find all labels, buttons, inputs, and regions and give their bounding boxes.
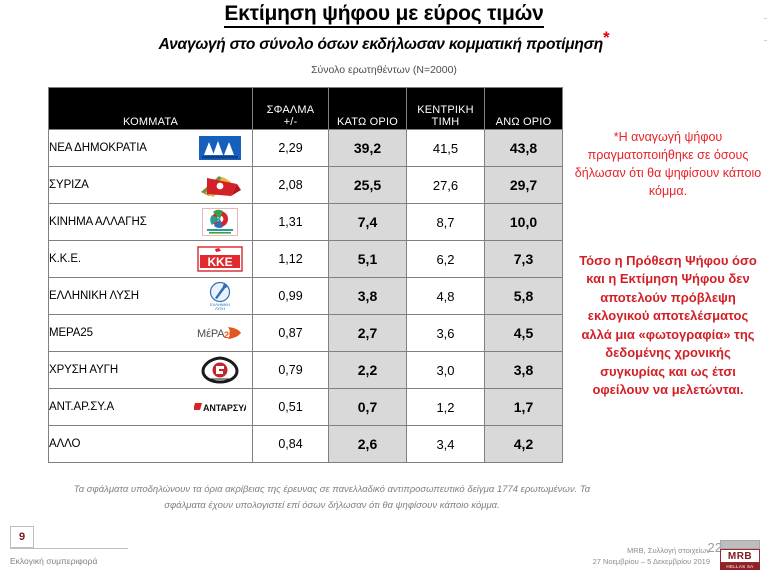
table-header-row: ΚΟΜΜΑΤΑ ΣΦΑΛΜΑ +/- ΚΑΤΩ ΟΡΙΟ ΚΕΝΤΡΙΚΗ ΤΙ… [49,88,563,130]
table-row: ΕΛΛΗΝΙΚΗ ΛΥΣΗΕΛΛΗΝΙΚΗΛΥΣΗ0,993,84,85,8 [49,278,563,315]
upper-bound-cell: 7,3 [485,241,563,278]
party-name: ΑΝΤ.ΑΡ.ΣΥ.Α [49,401,114,413]
nd-logo [194,134,246,162]
svg-text:ΜέΡΑ: ΜέΡΑ [197,328,225,340]
page-subtitle-text: Αναγωγή στο σύνολο όσων εκδήλωσαν κομματ… [159,36,603,53]
poll-table: ΚΟΜΜΑΤΑ ΣΦΑΛΜΑ +/- ΚΑΤΩ ΟΡΙΟ ΚΕΝΤΡΙΚΗ ΤΙ… [48,87,563,463]
table-row: ΚΙΝΗΜΑ ΑΛΛΑΓΗΣ1,317,48,710,0 [49,204,563,241]
lower-bound-cell: 39,2 [329,130,407,167]
footer-section-label: Εκλογική συμπεριφορά [10,556,97,566]
upper-bound-cell: 4,2 [485,426,563,463]
central-value-cell: 8,7 [407,204,485,241]
column-header-central-value: ΚΕΝΤΡΙΚΗ ΤΙΜΗ [407,88,485,130]
party-name: ΝΕΑ ΔΗΜΟΚΡΑΤΙΑ [49,142,147,154]
syriza-logo [194,171,246,199]
party-name: ΜΕΡΑ25 [49,327,93,339]
poll-table-container: ΚΟΜΜΑΤΑ ΣΦΑΛΜΑ +/- ΚΑΤΩ ΟΡΙΟ ΚΕΝΤΡΙΚΗ ΤΙ… [48,87,562,463]
slide-canvas: Εκτίμηση ψήφου με εύρος τιμών Αναγωγή στ… [0,0,768,576]
table-row: ΝΕΑ ΔΗΜΟΚΡΑΤΙΑ2,2939,241,543,8 [49,130,563,167]
error-margin-cell: 1,31 [253,204,329,241]
table-row: ΑΛΛΟ0,842,63,44,2 [49,426,563,463]
column-header-error: ΣΦΑΛΜΑ +/- [253,88,329,130]
central-value-cell: 3,4 [407,426,485,463]
upper-bound-cell: 4,5 [485,315,563,352]
mrb-logo: MRB HELLAS SA [720,540,760,570]
poll-table-head: ΚΟΜΜΑΤΑ ΣΦΑΛΜΑ +/- ΚΑΤΩ ΟΡΙΟ ΚΕΝΤΡΙΚΗ ΤΙ… [49,88,563,130]
footer-divider [10,548,128,549]
party-name-cell: Κ.Κ.Ε.ΚΚΕ [49,241,253,278]
lower-bound-cell: 2,7 [329,315,407,352]
error-margin-cell: 0,87 [253,315,329,352]
lower-bound-cell: 0,7 [329,389,407,426]
upper-bound-cell: 1,7 [485,389,563,426]
column-header-party: ΚΟΜΜΑΤΑ [49,88,253,130]
party-name-cell: ΧΡΥΣΗ ΑΥΓΗ [49,352,253,389]
mrb-logo-top-bar [720,540,760,549]
party-name-cell: ΑΛΛΟ [49,426,253,463]
party-name: ΣΥΡΙΖΑ [49,179,89,191]
source-line-1: MRB, Συλλογή στοιχείων [540,545,710,556]
asterisk-note: *Η αναγωγή ψήφου πραγματοποιήθηκε σε όσο… [572,128,764,201]
error-margin-cell: 2,29 [253,130,329,167]
sample-size-label: Σύνολο ερωτηθέντων (N=2000) [0,64,768,76]
party-name: ΚΙΝΗΜΑ ΑΛΛΑΓΗΣ [49,216,147,228]
party-name: ΕΛΛΗΝΙΚΗ ΛΥΣΗ [49,290,139,302]
party-name-cell: ΜΕΡΑ25ΜέΡΑ25 [49,315,253,352]
page-title: Εκτίμηση ψήφου με εύρος τιμών [0,2,768,26]
party-name-cell: ΑΝΤ.ΑΡ.ΣΥ.ΑΑΝΤΑΡΣΥΑ [49,389,253,426]
svg-text:ΚΚΕ: ΚΚΕ [207,255,232,269]
central-value-cell: 3,6 [407,315,485,352]
central-value-cell: 1,2 [407,389,485,426]
party-name: Κ.Κ.Ε. [49,253,81,265]
party-name: ΧΡΥΣΗ ΑΥΓΗ [49,364,118,376]
column-header-upper-bound: ΑΝΩ ΟΡΙΟ [485,88,563,130]
lower-bound-cell: 2,2 [329,352,407,389]
table-row: ΑΝΤ.ΑΡ.ΣΥ.ΑΑΝΤΑΡΣΥΑ0,510,71,21,7 [49,389,563,426]
central-value-cell: 6,2 [407,241,485,278]
interpretation-note: Τόσο η Πρόθεση Ψήφου όσο και η Εκτίμηση … [572,252,764,400]
upper-bound-cell: 5,8 [485,278,563,315]
svg-text:ΑΝΤΑΡΣΥΑ: ΑΝΤΑΡΣΥΑ [203,403,246,413]
error-margin-cell: 1,12 [253,241,329,278]
party-name-cell: ΕΛΛΗΝΙΚΗ ΛΥΣΗΕΛΛΗΝΙΚΗΛΥΣΗ [49,278,253,315]
column-header-lower-bound: ΚΑΤΩ ΟΡΙΟ [329,88,407,130]
page-subtitle: Αναγωγή στο σύνολο όσων εκδήλωσαν κομματ… [0,36,768,54]
error-margin-cell: 0,84 [253,426,329,463]
central-value-cell: 3,0 [407,352,485,389]
table-row: Κ.Κ.Ε.ΚΚΕ1,125,16,27,3 [49,241,563,278]
lower-bound-cell: 2,6 [329,426,407,463]
lower-bound-cell: 25,5 [329,167,407,204]
party-name-cell: ΝΕΑ ΔΗΜΟΚΡΑΤΙΑ [49,130,253,167]
mrb-logo-subtitle: HELLAS SA [720,563,760,570]
lower-bound-cell: 3,8 [329,278,407,315]
source-credit: MRB, Συλλογή στοιχείων 27 Νοεμβρίου – 5 … [540,545,710,568]
edge-artifact [764,40,767,41]
table-row: ΣΥΡΙΖΑ2,0825,527,629,7 [49,167,563,204]
upper-bound-cell: 43,8 [485,130,563,167]
subtitle-asterisk: * [603,28,609,47]
source-line-2: 27 Νοεμβρίου – 5 Δεκεμβρίου 2019 [540,556,710,567]
kinal-logo [194,208,246,236]
upper-bound-cell: 10,0 [485,204,563,241]
methodology-footnote: Τα σφάλματα υποδηλώνουν τα όρια ακρίβεια… [52,482,612,513]
mrb-logo-text: MRB [720,549,760,563]
poll-table-body: ΝΕΑ ΔΗΜΟΚΡΑΤΙΑ2,2939,241,543,8ΣΥΡΙΖΑ2,08… [49,130,563,463]
error-margin-cell: 0,51 [253,389,329,426]
central-value-cell: 27,6 [407,167,485,204]
edge-artifact [764,18,767,19]
page-title-text: Εκτίμηση ψήφου με εύρος τιμών [224,2,543,28]
upper-bound-cell: 29,7 [485,167,563,204]
upper-bound-cell: 3,8 [485,352,563,389]
mera25-logo: ΜέΡΑ25 [194,319,246,347]
table-row: ΜΕΡΑ25ΜέΡΑ250,872,73,64,5 [49,315,563,352]
table-row: ΧΡΥΣΗ ΑΥΓΗ0,792,23,03,8 [49,352,563,389]
antarsya-logo: ΑΝΤΑΡΣΥΑ [194,393,246,421]
svg-text:ΛΥΣΗ: ΛΥΣΗ [215,306,225,310]
error-margin-cell: 0,99 [253,278,329,315]
kke-logo: ΚΚΕ [194,245,246,273]
elliniki-lysi-logo: ΕΛΛΗΝΙΚΗΛΥΣΗ [194,282,246,310]
lower-bound-cell: 5,1 [329,241,407,278]
party-name: ΑΛΛΟ [49,438,80,450]
central-value-cell: 41,5 [407,130,485,167]
page-number-badge: 9 [10,526,34,548]
chrysi-avgi-logo [194,356,246,384]
party-name-cell: ΣΥΡΙΖΑ [49,167,253,204]
party-name-cell: ΚΙΝΗΜΑ ΑΛΛΑΓΗΣ [49,204,253,241]
lower-bound-cell: 7,4 [329,204,407,241]
central-value-cell: 4,8 [407,278,485,315]
error-margin-cell: 2,08 [253,167,329,204]
error-margin-cell: 0,79 [253,352,329,389]
